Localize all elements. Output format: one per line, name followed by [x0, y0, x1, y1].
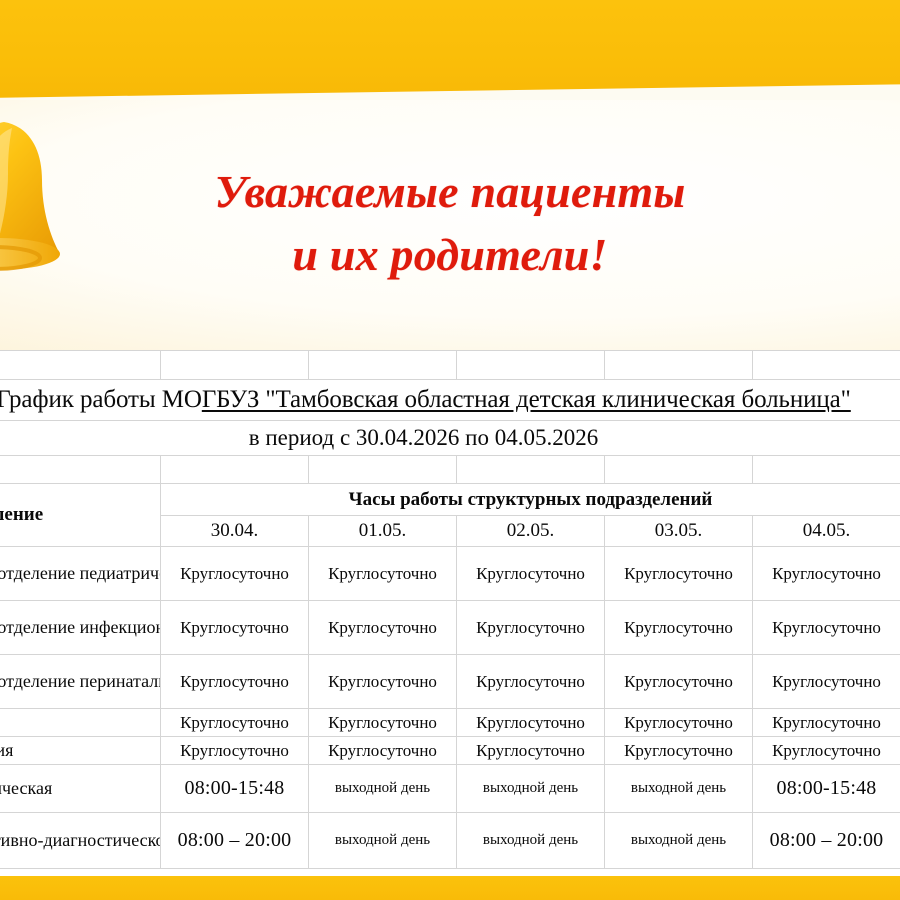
row-cell: 08:00 – 20:00 [753, 813, 900, 869]
row-cell: 08:00-15:48 [753, 765, 900, 813]
table-row: Поликлиническая 08:00-15:48 выходной ден… [0, 765, 900, 813]
row-cell: Круглосуточно [161, 547, 309, 601]
row-cell: Круглосуточно [605, 737, 753, 765]
table-row-title: График работы МО ГБУЗ "Тамбовская област… [0, 380, 900, 421]
table-row-group-header: Подразделение Часы работы структурных по… [0, 484, 900, 516]
row-cell: Круглосуточно [457, 655, 605, 709]
blank-cell [309, 351, 457, 380]
row-cell: Круглосуточно [309, 547, 457, 601]
blank-cell [0, 351, 161, 380]
row-cell: Круглосуточно [457, 737, 605, 765]
row-cell: Круглосуточно [457, 709, 605, 737]
schedule-table: График работы МО ГБУЗ "Тамбовская област… [0, 350, 900, 869]
table-row-subtitle: в период с 30.04.2026 по 04.05.2026 [0, 421, 900, 456]
table-row: Приёмное отделение педиатрического Кругл… [0, 547, 900, 601]
table-row: Приёмное отделение перинатального Кругло… [0, 655, 900, 709]
row-cell: Круглосуточно [309, 655, 457, 709]
blank-cell [309, 456, 457, 484]
table-row: Стационар Круглосуточно Круглосуточно Кр… [0, 709, 900, 737]
blank-cell [753, 456, 900, 484]
row-cell: выходной день [457, 765, 605, 813]
row-cell: 08:00-15:48 [161, 765, 309, 813]
row-cell: Круглосуточно [309, 737, 457, 765]
table-row: Лаборатория Круглосуточно Круглосуточно … [0, 737, 900, 765]
table-row: Консультативно-диагностическое отделение… [0, 813, 900, 869]
column-header-date-3: 02.05. [457, 516, 605, 547]
row-cell: Круглосуточно [753, 601, 900, 655]
column-header-date-1: 30.04. [161, 516, 309, 547]
row-cell: Круглосуточно [605, 655, 753, 709]
row-cell: Круглосуточно [753, 737, 900, 765]
row-cell: выходной день [605, 765, 753, 813]
blank-cell [161, 456, 309, 484]
row-unit-label: Приёмное отделение перинатального [0, 655, 161, 709]
column-header-group: Часы работы структурных подразделений [161, 484, 900, 516]
blank-cell [457, 456, 605, 484]
row-cell: Круглосуточно [457, 601, 605, 655]
row-cell: 08:00 – 20:00 [161, 813, 309, 869]
sheet-title-organization: ГБУЗ "Тамбовская областная детская клини… [202, 386, 851, 413]
row-cell: Круглосуточно [753, 547, 900, 601]
table-row-blank-mid [0, 456, 900, 484]
sheet-title-cell: График работы МО ГБУЗ "Тамбовская област… [0, 380, 900, 421]
row-unit-label: Стационар [0, 709, 161, 737]
row-unit-label: Приёмное отделение педиатрического [0, 547, 161, 601]
blank-cell [605, 456, 753, 484]
row-cell: Круглосуточно [605, 709, 753, 737]
blank-cell [161, 351, 309, 380]
row-cell: Круглосуточно [605, 547, 753, 601]
row-cell: Круглосуточно [309, 709, 457, 737]
row-cell: выходной день [457, 813, 605, 869]
sheet-subtitle: в период с 30.04.2026 по 04.05.2026 [0, 421, 900, 456]
row-unit-label: Консультативно-диагностическое отделение… [0, 813, 161, 869]
slide-canvas: Уважаемые пациенты и их родители! [0, 0, 900, 900]
blank-cell [605, 351, 753, 380]
row-cell: выходной день [605, 813, 753, 869]
row-cell: Круглосуточно [753, 655, 900, 709]
row-cell: Круглосуточно [605, 601, 753, 655]
table-row: Приёмное отделение инфекционного Круглос… [0, 601, 900, 655]
column-header-date-5: 04.05. [753, 516, 900, 547]
blank-cell [753, 351, 900, 380]
bottom-yellow-strip [0, 876, 900, 900]
row-cell: Круглосуточно [161, 709, 309, 737]
headline-line-1: Уважаемые пациенты [215, 166, 686, 217]
row-cell: Круглосуточно [161, 601, 309, 655]
table-row-blank-top [0, 351, 900, 380]
column-header-date-2: 01.05. [309, 516, 457, 547]
row-cell: Круглосуточно [457, 547, 605, 601]
row-unit-label: Поликлиническая [0, 765, 161, 813]
column-header-unit: Подразделение [0, 484, 161, 547]
row-cell: Круглосуточно [161, 655, 309, 709]
row-unit-label: Лаборатория [0, 737, 161, 765]
blank-cell [457, 351, 605, 380]
column-header-date-4: 03.05. [605, 516, 753, 547]
schedule-sheet: График работы МО ГБУЗ "Тамбовская област… [0, 350, 900, 876]
row-cell: выходной день [309, 765, 457, 813]
row-cell: выходной день [309, 813, 457, 869]
row-unit-label: Приёмное отделение инфекционного [0, 601, 161, 655]
row-cell: Круглосуточно [753, 709, 900, 737]
blank-cell [0, 456, 161, 484]
headline-line-2: и их родители! [0, 223, 900, 286]
row-cell: Круглосуточно [309, 601, 457, 655]
sheet-scroll-inner: График работы МО ГБУЗ "Тамбовская област… [0, 350, 900, 869]
page-title: Уважаемые пациенты и их родители! [0, 160, 900, 287]
row-cell: Круглосуточно [161, 737, 309, 765]
sheet-title-prefix: График работы МО [0, 386, 202, 414]
